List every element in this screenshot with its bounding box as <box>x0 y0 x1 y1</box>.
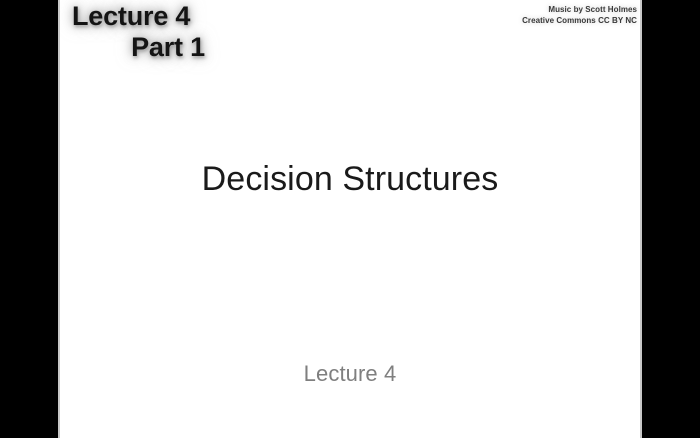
video-frame: Lecture 4 Part 1 Music by Scott Holmes C… <box>0 0 700 438</box>
slide-canvas: Lecture 4 Part 1 Music by Scott Holmes C… <box>58 0 642 438</box>
music-credit: Music by Scott Holmes Creative Commons C… <box>522 4 637 27</box>
music-credit-line-2: Creative Commons CC BY NC <box>522 15 637 26</box>
letterbox-bar-right <box>642 0 700 438</box>
slide-title: Decision Structures <box>58 160 642 199</box>
pillar-edge-right <box>640 0 642 438</box>
overlay-lecture-label: Lecture 4 <box>66 2 256 30</box>
lecture-overlay: Lecture 4 Part 1 <box>66 2 256 62</box>
slide-subtitle: Lecture 4 <box>58 361 642 387</box>
music-credit-line-1: Music by Scott Holmes <box>522 4 637 15</box>
overlay-part-label: Part 1 <box>66 33 256 61</box>
pillar-edge-left <box>58 0 60 438</box>
letterbox-bar-left <box>0 0 58 438</box>
